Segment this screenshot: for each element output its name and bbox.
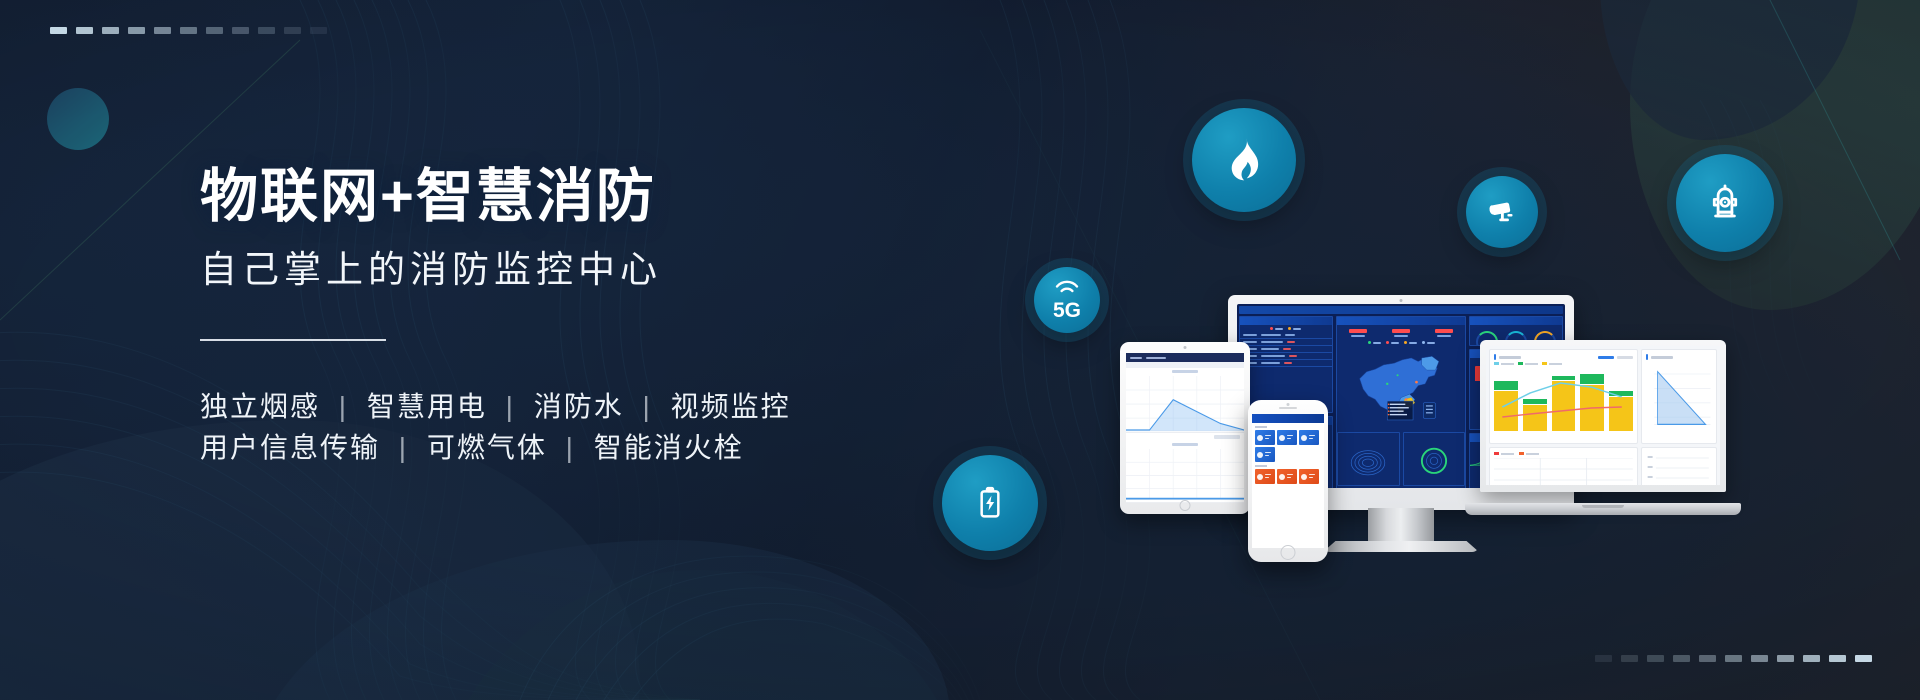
data-grid [1494, 458, 1633, 485]
badge-camera [1466, 176, 1538, 248]
table-row [1240, 339, 1332, 346]
tablet-camera-dot [1184, 346, 1187, 349]
legend-entry [1404, 341, 1417, 344]
tile-label [1309, 474, 1317, 480]
device-cluster [1120, 280, 1880, 580]
chart-title [1172, 443, 1198, 446]
tablet-chart-1 [1126, 368, 1244, 433]
laptop-screen [1486, 346, 1720, 485]
legend-dot [1270, 327, 1273, 330]
cell [1261, 348, 1279, 350]
legend-dot [1422, 341, 1425, 344]
radar-widget-1 [1337, 432, 1400, 486]
laptop-lid [1480, 340, 1726, 492]
phone-section-orange [1252, 462, 1324, 484]
legend-entry [1542, 362, 1562, 365]
monitor-stand-neck [1368, 508, 1434, 546]
legend-entry [1422, 341, 1435, 344]
legend-dot [1288, 327, 1291, 330]
tile-label [1287, 435, 1295, 441]
phone-body [1248, 400, 1328, 562]
legend-label [1391, 342, 1399, 344]
feature-item: 消防水 [534, 391, 624, 422]
phone-section-blue [1252, 423, 1324, 462]
dash-marker [1803, 655, 1820, 662]
phone-home-button[interactable] [1281, 545, 1296, 560]
cell-alert [1284, 362, 1292, 364]
dash-marker [258, 27, 275, 34]
phone-camera-dot [1287, 403, 1290, 406]
tile-item[interactable] [1277, 469, 1297, 484]
feature-item: 独立烟感 [200, 391, 320, 422]
tile-item[interactable] [1299, 469, 1319, 484]
laptop-device [1480, 340, 1726, 515]
kpi-label [1437, 335, 1451, 337]
tile-icon [1257, 452, 1263, 458]
dash-marker [1621, 655, 1638, 662]
dash-marker [284, 27, 301, 34]
panel-header [1470, 317, 1562, 325]
laptop-base-notch [1582, 505, 1624, 508]
dash-marker [1725, 655, 1742, 662]
green-ring-gauge-icon [1406, 438, 1462, 480]
flame-icon [1219, 135, 1269, 185]
cell-alert [1289, 355, 1297, 357]
legend-label [1275, 328, 1283, 330]
tile-label [1265, 474, 1273, 480]
dash-marker [102, 27, 119, 34]
tile-icon [1257, 474, 1263, 480]
bottom-legend [1337, 486, 1465, 488]
map-tooltip [1387, 401, 1413, 420]
legend-entry [1519, 452, 1539, 455]
feature-item: 智能消火栓 [594, 432, 744, 463]
kpi-item [1349, 329, 1367, 337]
tab-active[interactable] [1598, 356, 1614, 359]
feature-item: 可燃气体 [427, 432, 547, 463]
section-label [1255, 426, 1267, 428]
panel-header [1337, 317, 1465, 325]
tile-item[interactable] [1255, 469, 1275, 484]
kpi-row [1337, 325, 1465, 339]
feature-item: 智慧用电 [367, 391, 487, 422]
accent-bar [1494, 354, 1496, 360]
5g-label: 5G [1053, 300, 1081, 321]
dash-marker [1751, 655, 1768, 662]
cell [1261, 355, 1285, 357]
nav-item [1146, 357, 1166, 359]
radar-widget-2 [1403, 432, 1466, 486]
tile-label [1309, 435, 1317, 441]
cell [1261, 341, 1283, 343]
dash-marker [310, 27, 327, 34]
battery-icon [970, 483, 1010, 523]
tablet-chart-2 [1126, 441, 1244, 503]
declining-area-chart [1646, 362, 1712, 434]
badge-flame [1192, 108, 1296, 212]
area-line-chart [1126, 376, 1244, 432]
nav-item [1130, 357, 1142, 359]
table-card [1489, 447, 1638, 485]
dash-marker [1647, 655, 1664, 662]
map-bottom-widgets [1337, 432, 1465, 486]
legend-label [1409, 342, 1417, 344]
cell [1243, 334, 1257, 336]
tile-label [1287, 474, 1295, 480]
legend-entry [1494, 452, 1514, 455]
alarm-list-panel [1239, 316, 1333, 413]
map-panel [1336, 316, 1466, 488]
kpi-value [1435, 329, 1453, 333]
hero-banner: 物联网+智慧消防 自己掌上的消防监控中心 独立烟感 | 智慧用电 | 消防水 |… [0, 0, 1920, 700]
tile-grid-orange [1255, 469, 1321, 484]
tile-icon [1279, 435, 1285, 441]
chart-title [1172, 370, 1198, 373]
phone-header [1252, 414, 1324, 423]
combo-chart [1494, 367, 1633, 439]
dash-marker-row-bottom-right [1595, 655, 1872, 662]
phone-screen [1252, 414, 1324, 548]
legend-label [1373, 342, 1381, 344]
wave-shape-bottom-left-2 [250, 540, 950, 700]
kpi-item [1435, 329, 1453, 337]
cell [1285, 334, 1295, 336]
cell-alert [1287, 341, 1295, 343]
concentric-radar-icon [1340, 438, 1396, 480]
feature-list: 独立烟感 | 智慧用电 | 消防水 | 视频监控 用户信息传输 | 可燃气体 |… [200, 387, 900, 468]
china-map [1337, 346, 1465, 432]
legend-entry [1518, 362, 1538, 365]
kpi-item [1392, 329, 1410, 337]
table-row [1240, 346, 1332, 353]
cell [1261, 334, 1281, 336]
legend-label [1427, 342, 1435, 344]
dashboard-title-bar [1239, 306, 1563, 314]
teal-circle-accent [47, 88, 109, 150]
card-header [1646, 354, 1712, 360]
feature-separator: | [557, 432, 584, 463]
tablet-screen [1126, 353, 1244, 503]
feature-line-1: 独立烟感 | 智慧用电 | 消防水 | 视频监控 [200, 387, 900, 428]
dash-marker [76, 27, 93, 34]
dash-marker [1829, 655, 1846, 662]
triangle-chart-card [1641, 349, 1717, 444]
feature-separator: | [497, 391, 524, 422]
wave-shape-bottom-middle [430, 570, 970, 700]
legend-entry [1494, 362, 1514, 365]
tile-item[interactable] [1299, 430, 1319, 445]
dash-marker [128, 27, 145, 34]
table-row [1240, 353, 1332, 360]
dash-marker [232, 27, 249, 34]
legend-entry [1288, 327, 1301, 330]
divider-rule [200, 339, 386, 341]
badge-hydrant [1676, 154, 1774, 252]
dash-marker [1855, 655, 1872, 662]
kpi-label [1351, 335, 1365, 337]
cell-alert [1283, 348, 1291, 350]
monitor-stand-foot [1323, 541, 1479, 552]
kpi-label [1394, 335, 1408, 337]
feature-line-2: 用户信息传输 | 可燃气体 | 智能消火栓 [200, 428, 900, 469]
laptop-row-bottom [1489, 447, 1717, 485]
tablet-body [1120, 342, 1250, 514]
flat-line-chart [1126, 449, 1244, 502]
monitor-camera-dot [1400, 299, 1403, 302]
table-row [1240, 360, 1332, 367]
tile-label [1265, 435, 1273, 441]
accent-bar [1646, 354, 1648, 360]
empty-axis-chart [1646, 452, 1712, 485]
card-title [1651, 356, 1673, 359]
table-header-row [1240, 332, 1332, 339]
panel-header [1240, 317, 1332, 325]
card-header [1494, 354, 1633, 360]
dash-marker [180, 27, 197, 34]
legend-dot [1404, 341, 1407, 344]
5g-icon: 5G [1053, 280, 1081, 321]
dashboard-center-column [1336, 316, 1466, 488]
legend-dot [1368, 341, 1371, 344]
tile-grid-blue [1255, 430, 1321, 462]
navy-blob-top-right [1600, 0, 1860, 140]
badge-battery [942, 455, 1038, 551]
camera-icon [1484, 194, 1520, 230]
phone-speaker [1279, 407, 1297, 409]
tile-item[interactable] [1255, 447, 1275, 462]
map-side-panel [1423, 403, 1435, 418]
feature-item: 用户信息传输 [200, 432, 380, 463]
tablet-home-button[interactable] [1180, 500, 1191, 511]
tile-label [1265, 452, 1273, 458]
feature-separator: | [634, 391, 661, 422]
kpi-value [1349, 329, 1367, 333]
panel-legend [1240, 325, 1332, 332]
dash-marker [154, 27, 171, 34]
legend-entry [1368, 341, 1381, 344]
tile-item[interactable] [1255, 430, 1275, 445]
hero-copy: 物联网+智慧消防 自己掌上的消防监控中心 独立烟感 | 智慧用电 | 消防水 |… [200, 165, 900, 469]
map-legend [1337, 339, 1465, 346]
tablet-header [1126, 353, 1244, 362]
dash-marker [50, 27, 67, 34]
section-label [1255, 465, 1267, 467]
tile-icon [1301, 435, 1307, 441]
kpi-value [1392, 329, 1410, 333]
tile-item[interactable] [1277, 430, 1297, 445]
axis-card [1641, 447, 1717, 485]
legend-label [1293, 328, 1301, 330]
smartphone-device [1248, 400, 1328, 562]
dashboard-topbar [1237, 304, 1565, 316]
dash-marker [1673, 655, 1690, 662]
teal-blob-top-right [1630, 0, 1920, 310]
tile-icon [1257, 435, 1263, 441]
card-legend [1494, 362, 1633, 365]
line-series [1494, 367, 1633, 439]
feature-separator: | [390, 432, 417, 463]
hero-title: 物联网+智慧消防 [200, 165, 900, 230]
mixed-chart-card [1489, 349, 1638, 444]
badge-5g: 5G [1034, 267, 1100, 333]
hydrant-icon [1702, 180, 1748, 226]
tablet-device [1120, 342, 1250, 514]
legend-dot [1386, 341, 1389, 344]
feature-separator: | [330, 391, 357, 422]
hero-subtitle: 自己掌上的消防监控中心 [200, 248, 900, 292]
legend-entry [1386, 341, 1399, 344]
card-title [1499, 356, 1521, 359]
dash-marker [1595, 655, 1612, 662]
china-map-shape [1349, 346, 1453, 432]
dash-marker [206, 27, 223, 34]
laptop-row-top [1489, 349, 1717, 444]
cell [1261, 362, 1280, 364]
feature-item: 视频监控 [671, 391, 791, 422]
tile-icon [1301, 474, 1307, 480]
dash-marker [1777, 655, 1794, 662]
card-legend [1494, 452, 1633, 455]
legend-entry [1270, 327, 1283, 330]
laptop-base [1465, 503, 1741, 515]
tab-inactive[interactable] [1617, 356, 1633, 359]
wifi-arc-icon [1054, 280, 1080, 293]
dash-marker-row-top-left [50, 27, 327, 34]
dash-marker [1699, 655, 1716, 662]
tile-icon [1279, 474, 1285, 480]
